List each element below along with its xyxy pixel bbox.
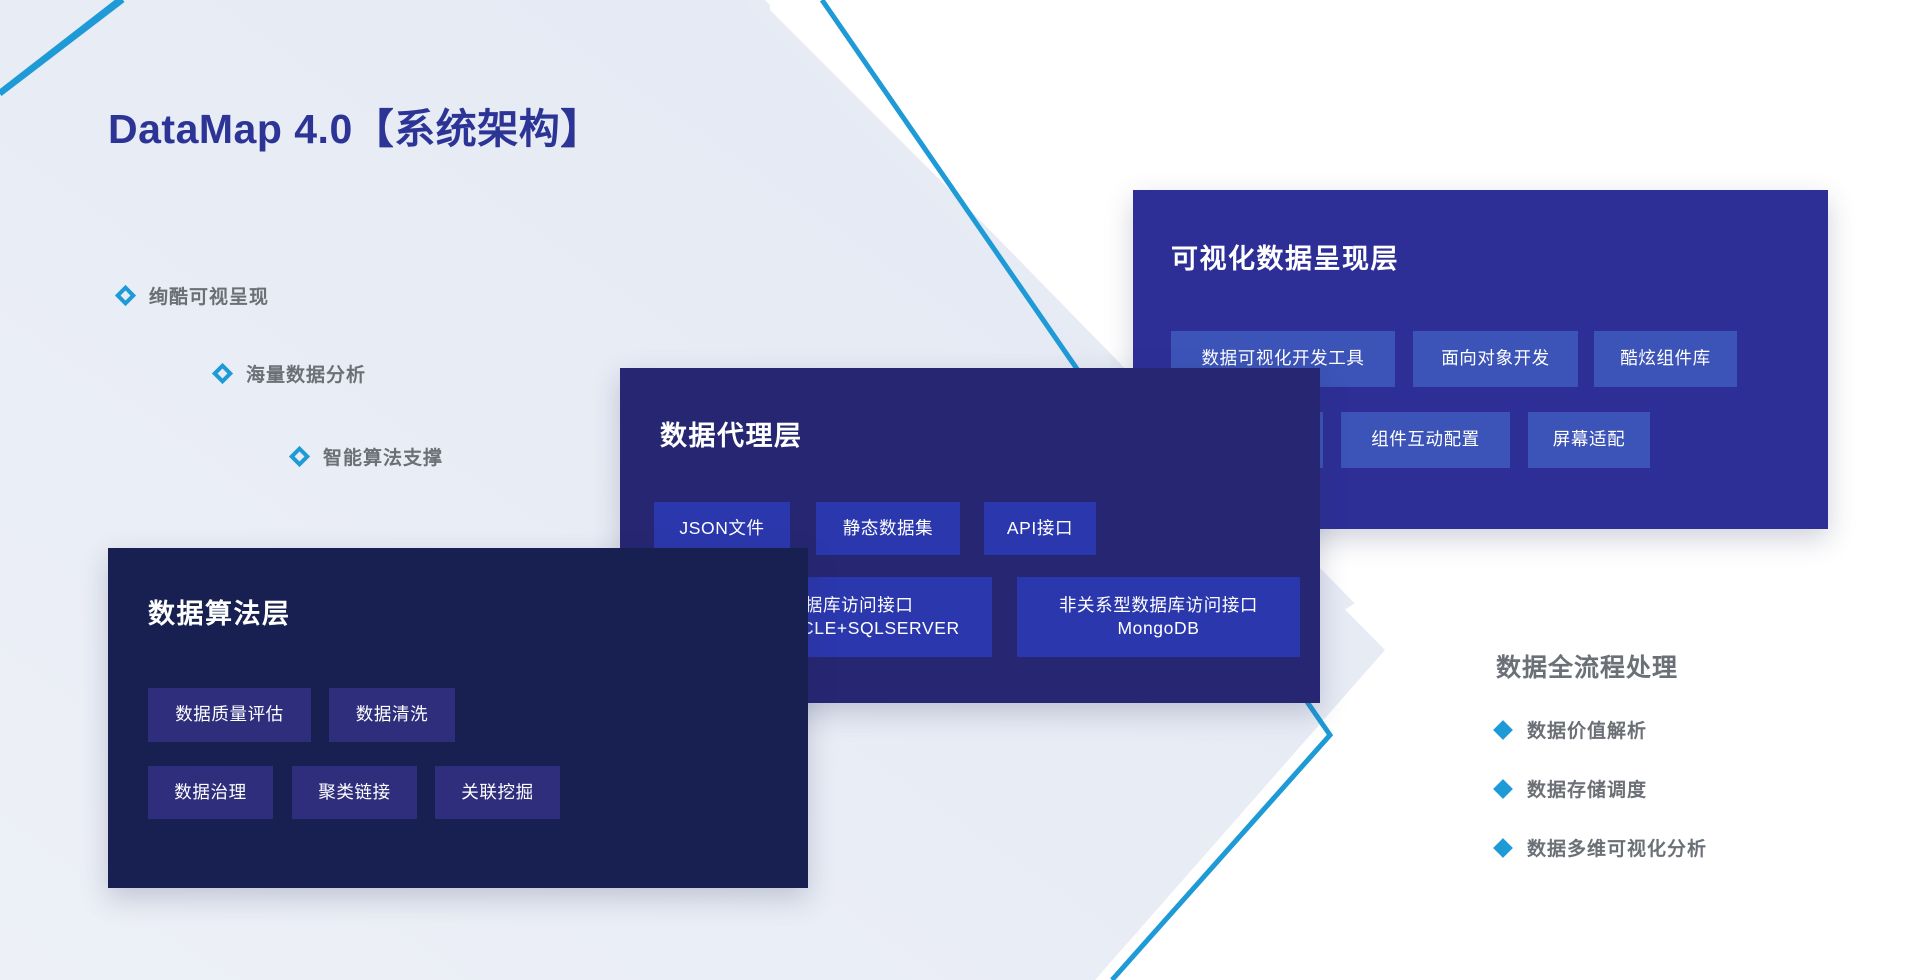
- right-block-label: 数据存储调度: [1527, 775, 1647, 802]
- page-title: DataMap 4.0【系统架构】: [108, 95, 602, 155]
- accent-line-top-left: [0, 0, 123, 94]
- right-block-title: 数据全流程处理: [1496, 648, 1707, 684]
- right-block-item-1: 数据价值解析: [1496, 716, 1707, 743]
- diamond-bullet-icon: [289, 446, 310, 467]
- tag-proxy-5[interactable]: 非关系型数据库访问接口 MongoDB: [1017, 577, 1300, 657]
- tag-visualization-3[interactable]: 酷炫组件库: [1594, 331, 1737, 387]
- left-feature-item-3: 智能算法支撑: [292, 443, 443, 470]
- diamond-bullet-icon: [1493, 838, 1513, 858]
- tag-visualization-5[interactable]: 组件互动配置: [1341, 412, 1510, 468]
- tag-algorithm-3[interactable]: 数据治理: [148, 766, 273, 819]
- right-block-item-3: 数据多维可视化分析: [1496, 834, 1707, 861]
- right-summary-block: 数据全流程处理 数据价值解析 数据存储调度 数据多维可视化分析: [1496, 648, 1707, 861]
- tag-algorithm-2[interactable]: 数据清洗: [329, 688, 455, 742]
- tag-algorithm-5[interactable]: 关联挖掘: [435, 766, 560, 819]
- diamond-bullet-icon: [1493, 779, 1513, 799]
- tag-algorithm-4[interactable]: 聚类链接: [292, 766, 417, 819]
- tag-visualization-6[interactable]: 屏幕适配: [1528, 412, 1650, 468]
- tag-proxy-3[interactable]: API接口: [984, 502, 1096, 555]
- layer-title-visualization: 可视化数据呈现层: [1171, 237, 1399, 276]
- diamond-bullet-icon: [212, 363, 233, 384]
- left-feature-label: 海量数据分析: [246, 360, 366, 387]
- right-block-item-2: 数据存储调度: [1496, 775, 1707, 802]
- tag-visualization-2[interactable]: 面向对象开发: [1413, 331, 1578, 387]
- left-feature-label: 智能算法支撑: [323, 443, 443, 470]
- left-feature-label: 绚酷可视呈现: [149, 282, 269, 309]
- tag-proxy-2[interactable]: 静态数据集: [816, 502, 960, 555]
- slide-canvas: DataMap 4.0【系统架构】 绚酷可视呈现 海量数据分析 智能算法支撑 可…: [0, 0, 1925, 980]
- layer-panel-algorithm: 数据算法层 数据质量评估 数据清洗 数据治理 聚类链接 关联挖掘: [108, 548, 808, 888]
- layer-title-algorithm: 数据算法层: [148, 592, 291, 631]
- accent-line-upper: [0, 0, 822, 82]
- diamond-bullet-icon: [1493, 720, 1513, 740]
- layer-title-proxy: 数据代理层: [660, 414, 803, 453]
- right-block-label: 数据多维可视化分析: [1527, 834, 1707, 861]
- diamond-bullet-icon: [115, 285, 136, 306]
- left-feature-item-2: 海量数据分析: [215, 360, 366, 387]
- right-block-label: 数据价值解析: [1527, 716, 1647, 743]
- left-feature-item-1: 绚酷可视呈现: [118, 282, 269, 309]
- tag-algorithm-1[interactable]: 数据质量评估: [148, 688, 311, 742]
- accent-line-top-left-b: [0, 0, 160, 92]
